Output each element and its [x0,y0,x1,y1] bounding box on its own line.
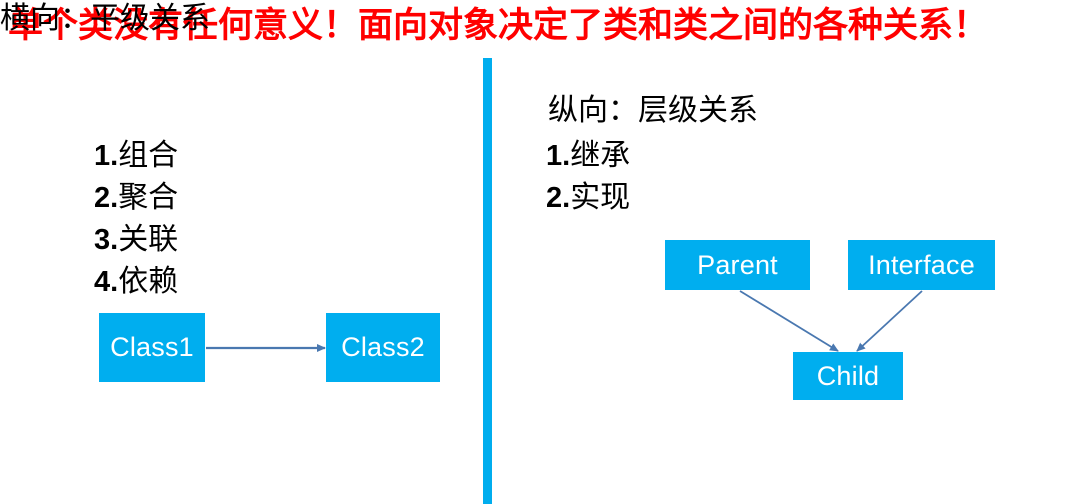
list-item-number: 2. [94,182,118,214]
list-item-number: 1. [546,140,570,172]
list-item: 3.关联 [94,219,178,261]
node-class1[interactable]: Class1 [99,313,205,382]
list-item-number: 1. [94,140,118,172]
left-column-heading: 横向：平级关系 [0,0,210,38]
list-item-number: 3. [94,224,118,256]
left-column-list: 1.组合 2.聚合 3.关联 4.依赖 [94,135,178,303]
list-item-label: 组合 [118,138,178,173]
list-item: 1.继承 [546,135,630,177]
slide-canvas: 单个类没有任何意义！面向对象决定了类和类之间的各种关系！ 横向：平级关系 1.组… [0,0,1074,504]
list-item: 4.依赖 [94,261,178,303]
edge-parent-child [740,291,838,351]
list-item: 1.组合 [94,135,178,177]
list-item: 2.聚合 [94,177,178,219]
list-item-label: 实现 [570,180,630,215]
node-class2[interactable]: Class2 [326,313,440,382]
node-child[interactable]: Child [793,352,903,400]
list-item-label: 继承 [570,138,630,173]
list-item: 2.实现 [546,177,630,219]
list-item-label: 聚合 [118,180,178,215]
edge-interface-child [857,291,922,351]
right-column-heading: 纵向：层级关系 [548,92,758,130]
list-item-number: 4. [94,266,118,298]
right-column-list: 1.继承 2.实现 [546,135,630,219]
list-item-label: 依赖 [118,264,178,299]
list-item-label: 关联 [118,222,178,257]
node-parent[interactable]: Parent [665,240,810,290]
node-interface[interactable]: Interface [848,240,995,290]
list-item-number: 2. [546,182,570,214]
column-divider [483,58,492,504]
